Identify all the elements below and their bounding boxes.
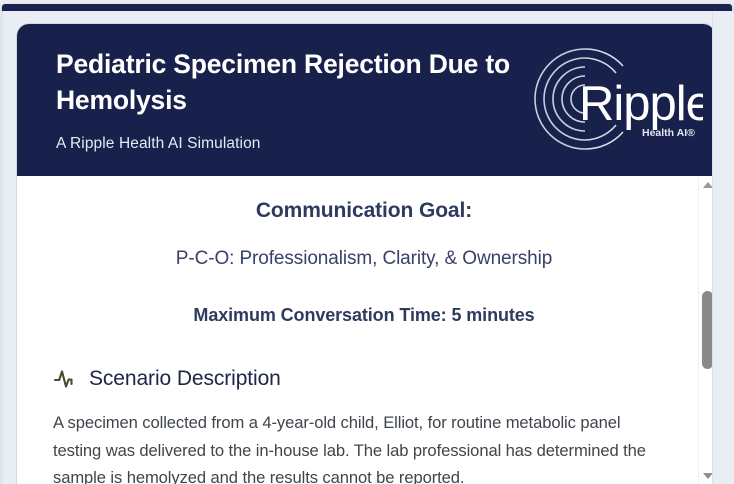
- scenario-description-header: Scenario Description: [53, 366, 675, 391]
- scenario-description-text: A specimen collected from a 4-year-old c…: [53, 409, 673, 484]
- max-conversation-time: Maximum Conversation Time: 5 minutes: [53, 305, 675, 326]
- right-gutter: [712, 11, 734, 484]
- window-title-bar: [2, 4, 732, 11]
- pulse-icon: [53, 366, 78, 391]
- communication-goal-value: P-C-O: Professionalism, Clarity, & Owner…: [53, 248, 675, 270]
- simulation-card: Pediatric Specimen Rejection Due to Hemo…: [17, 24, 715, 484]
- communication-goal-heading: Communication Goal:: [53, 199, 675, 223]
- logo-tagline: Health AI®: [642, 127, 695, 139]
- chevron-down-icon: [703, 473, 713, 479]
- svg-text:Ripple: Ripple: [579, 77, 703, 131]
- page-title: Pediatric Specimen Rejection Due to Hemo…: [56, 46, 526, 119]
- card-body: Communication Goal: P-C-O: Professionali…: [17, 176, 715, 484]
- page-subtitle: A Ripple Health AI Simulation: [56, 135, 526, 153]
- card-header: Pediatric Specimen Rejection Due to Hemo…: [17, 24, 715, 176]
- chevron-up-icon: [703, 182, 713, 188]
- header-text-block: Pediatric Specimen Rejection Due to Hemo…: [56, 46, 526, 153]
- window-chrome-strip: [0, 0, 734, 10]
- section-heading-label: Scenario Description: [89, 367, 281, 391]
- ripple-logo: Ripple Health AI®: [523, 46, 703, 156]
- page-viewport: Pediatric Specimen Rejection Due to Hemo…: [0, 11, 734, 484]
